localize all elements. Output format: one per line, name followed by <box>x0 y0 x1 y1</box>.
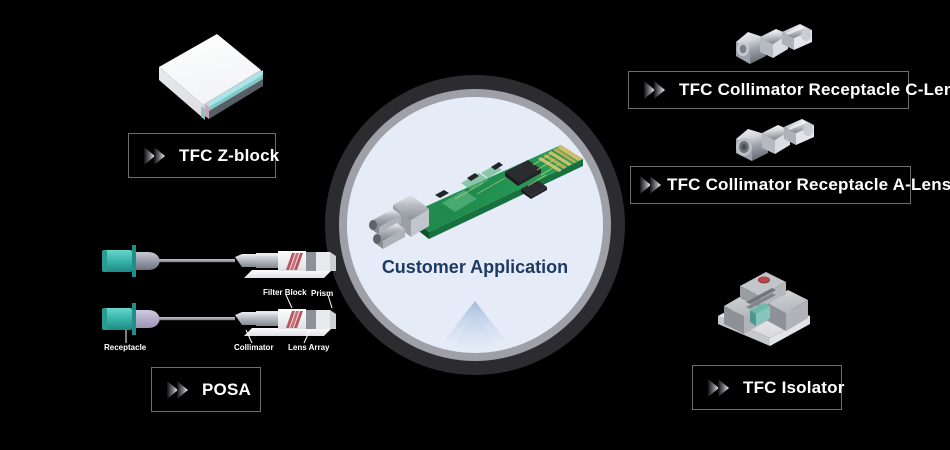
center-hub: Customer Application <box>325 75 625 375</box>
double-chevron-right-icon <box>707 377 733 399</box>
label-text-tfc-collimator-receptacle-c-lens: TFC Collimator Receptacle C-Lens <box>679 80 950 100</box>
label-text-tfc-isolator: TFC Isolator <box>743 378 845 398</box>
label-box-posa[interactable]: POSA <box>151 367 261 412</box>
double-chevron-right-icon <box>143 145 169 167</box>
label-box-tfc-isolator[interactable]: TFC Isolator <box>692 365 842 410</box>
double-chevron-right-icon <box>166 379 192 401</box>
label-box-tfc-collimator-receptacle-c-lens[interactable]: TFC Collimator Receptacle C-Lens <box>628 71 909 109</box>
posa-callout-filter-block: Filter Block <box>263 288 307 297</box>
chevron-up-icon <box>440 297 510 347</box>
diagram-canvas: Customer Application <box>0 0 950 450</box>
center-caption: Customer Application <box>347 257 603 278</box>
posa-callout-collimator: Collimator <box>234 343 274 352</box>
z-block-3d-icon <box>145 22 270 127</box>
posa-callout-lens-array: Lens Array <box>288 343 330 352</box>
center-inner-disc: Customer Application <box>347 97 603 353</box>
pcb-transceiver-module-icon <box>365 137 590 252</box>
posa-assembly-diagram-icon <box>96 240 346 360</box>
double-chevron-right-icon <box>639 174 665 196</box>
isolator-3d-icon <box>710 258 820 348</box>
label-box-tfc-collimator-receptacle-a-lens[interactable]: TFC Collimator Receptacle A-Lens <box>630 166 911 204</box>
collimator-c-lens-3d-icon <box>726 16 826 74</box>
posa-callout-receptacle: Receptacle <box>104 343 146 352</box>
label-text-tfc-collimator-receptacle-a-lens: TFC Collimator Receptacle A-Lens <box>667 175 950 195</box>
collimator-a-lens-3d-icon <box>726 111 826 169</box>
double-chevron-right-icon <box>643 79 669 101</box>
label-text-posa: POSA <box>202 380 251 400</box>
posa-callout-prism: Prism <box>311 289 333 298</box>
label-box-tfc-z-block[interactable]: TFC Z-block <box>128 133 276 178</box>
center-ring-gray: Customer Application <box>339 89 611 361</box>
label-text-tfc-z-block: TFC Z-block <box>179 146 279 166</box>
